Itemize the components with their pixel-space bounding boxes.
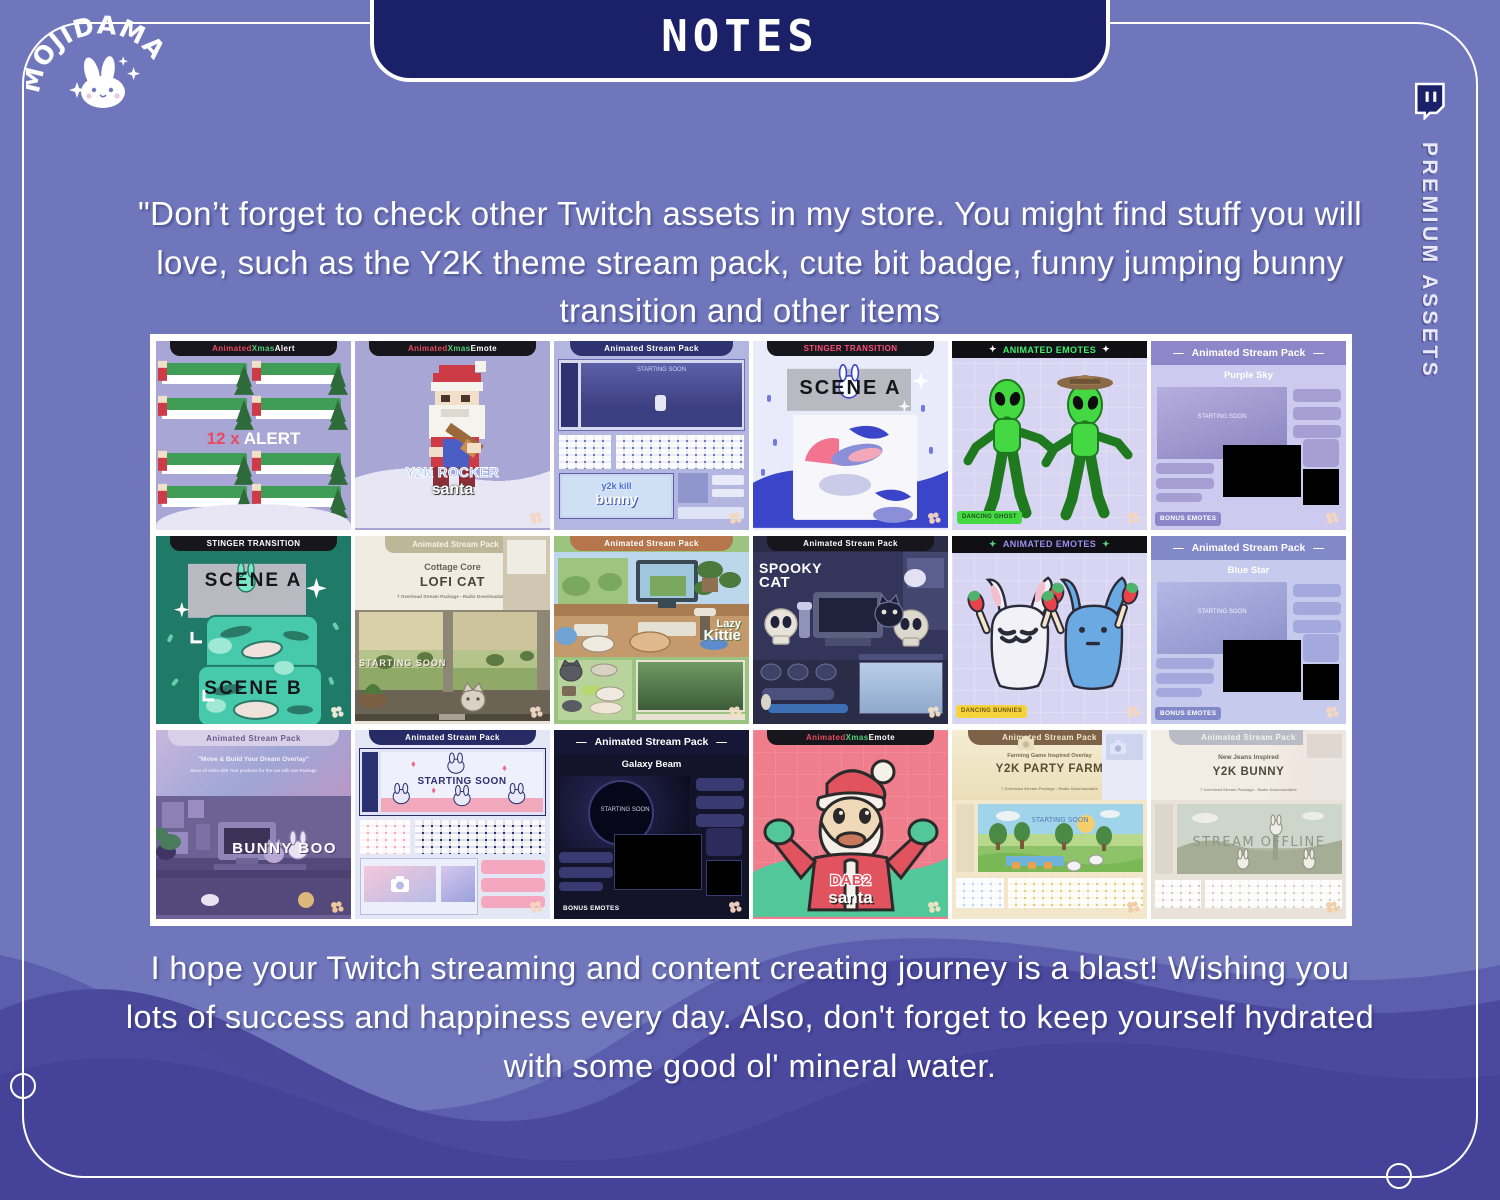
thumb-title: SCENE A bbox=[799, 377, 901, 399]
thumb-screen-text: STARTING SOON bbox=[359, 658, 446, 668]
twitch-glitch-icon bbox=[1412, 82, 1446, 120]
flower-icon bbox=[329, 900, 345, 914]
thumb-subtitle: Kittie bbox=[704, 627, 742, 644]
gallery-item-lofi-cat[interactable]: Animated Stream Pack Cottage Core LOFI C… bbox=[355, 536, 550, 725]
thumb-badge: BONUS EMOTES bbox=[1155, 707, 1221, 720]
camera-icon bbox=[1018, 736, 1034, 750]
thumb-header: Animated Stream Pack bbox=[595, 736, 709, 748]
gallery-item-dancing-ghost-emotes[interactable]: ✦ ANIMATED EMOTES ✦ bbox=[952, 341, 1147, 530]
flower-icon bbox=[1125, 511, 1141, 525]
frame-circle-bottom bbox=[1386, 1163, 1412, 1189]
camera-icon bbox=[391, 876, 409, 892]
thumb-subtitle: Blue Star bbox=[1151, 565, 1346, 576]
flower-icon bbox=[727, 900, 743, 914]
flower-icon bbox=[1324, 900, 1340, 914]
thumb-subtitle: CAT bbox=[759, 574, 822, 591]
svg-text:STARTING SOON: STARTING SOON bbox=[1031, 816, 1088, 824]
flower-icon bbox=[528, 511, 544, 525]
flower-icon bbox=[727, 511, 743, 525]
thumb-quote: "Move & Build Your Dream Overlay" bbox=[156, 756, 351, 763]
thumb-note: Move all sides with Your products for th… bbox=[156, 768, 351, 774]
gallery-item-galaxy-beam[interactable]: — Animated Stream Pack — Galaxy Beam STA… bbox=[554, 730, 749, 919]
gallery-item-dab2-santa[interactable]: Animated Xmas Emote bbox=[753, 730, 948, 919]
header-banner: NOTES bbox=[370, 0, 1110, 82]
thumb-title: y2k kill bbox=[601, 481, 631, 491]
gallery-item-purple-sky-pack[interactable]: — Animated Stream Pack — Purple Sky STAR… bbox=[1151, 341, 1346, 530]
thumb-header: Animated Stream Pack bbox=[767, 536, 934, 551]
thumb-badge: DANCING BUNNIES bbox=[956, 705, 1027, 718]
flower-icon bbox=[1324, 705, 1340, 719]
thumb-header: Animated Stream Pack bbox=[570, 341, 733, 356]
gallery-item-stinger-scene-a[interactable]: STINGER TRANSITION bbox=[753, 341, 948, 530]
thumb-title: Y2K ROCKER bbox=[406, 465, 500, 480]
flower-icon bbox=[1125, 705, 1141, 719]
thumb-screen-text: STARTING SOON bbox=[1197, 414, 1246, 420]
thumb-title: BUNNY BOO bbox=[156, 840, 351, 857]
flower-icon bbox=[1125, 900, 1141, 914]
thumb-subtitle: santa bbox=[828, 888, 872, 907]
thumb-title: DAB2 bbox=[830, 872, 871, 889]
bunny-mascot-icon bbox=[81, 55, 125, 108]
flower-icon bbox=[528, 705, 544, 719]
thumb-header: Animated Stream Pack bbox=[570, 536, 733, 551]
thumb-header: Animated Stream Pack bbox=[1192, 347, 1306, 359]
flower-icon bbox=[926, 511, 942, 525]
thumb-screen-text: STARTING SOON bbox=[1197, 609, 1246, 615]
gallery-item-spooky-cat[interactable]: Animated Stream Pack bbox=[753, 536, 948, 725]
flower-icon bbox=[926, 705, 942, 719]
thumb-subtitle: bunny bbox=[596, 491, 638, 507]
thumb-badge: BONUS EMOTES bbox=[558, 902, 624, 915]
thumb-header: Animated Stream Pack bbox=[1192, 542, 1306, 554]
thumb-screen-text: STARTING SOON bbox=[600, 807, 649, 813]
thumb-title-2: SCENE B bbox=[204, 678, 302, 699]
thumb-subtitle: santa bbox=[432, 481, 474, 498]
thumb-header: Animated Stream Pack bbox=[369, 730, 536, 745]
page-title: NOTES bbox=[661, 11, 818, 62]
gallery-item-y2k-rocker-santa[interactable]: Animated Xmas Emote bbox=[355, 341, 550, 530]
gallery-item-bunny-boo[interactable]: Animated Stream Pack "Move & Build Your … bbox=[156, 730, 351, 919]
flower-icon bbox=[528, 900, 544, 914]
premium-assets-label: PREMIUM ASSETS bbox=[1417, 142, 1441, 379]
gallery-item-xmas-alert[interactable]: Animated Xmas Alert 12 x ALERT bbox=[156, 341, 351, 530]
flower-icon bbox=[926, 900, 942, 914]
gallery-item-lazy-kittie[interactable]: Animated Stream Pack bbox=[554, 536, 749, 725]
thumb-subtitle: Galaxy Beam bbox=[554, 759, 749, 770]
flower-icon bbox=[329, 705, 345, 719]
thumb-badge: DANCING GHOST bbox=[957, 511, 1022, 524]
brand-logo: MOJIDAMA bbox=[26, 10, 176, 115]
premium-assets-rail: PREMIUM ASSETS bbox=[1394, 82, 1464, 502]
frame-circle-left bbox=[10, 1073, 36, 1099]
gallery-item-stinger-green[interactable]: STINGER TRANSITION bbox=[156, 536, 351, 725]
gallery-item-y2k-bunny[interactable]: Animated Stream Pack New Jeans Inspired … bbox=[1151, 730, 1346, 919]
thumb-subtitle: Purple Sky bbox=[1151, 370, 1346, 381]
bottom-paragraph: I hope your Twitch streaming and content… bbox=[125, 944, 1375, 1090]
gallery-item-starting-soon-keyboard[interactable]: Animated Stream Pack STARTING SOON bbox=[355, 730, 550, 919]
camera-icon bbox=[1110, 740, 1126, 754]
asset-gallery: Animated Xmas Alert 12 x ALERT bbox=[150, 334, 1352, 926]
top-paragraph: "Don’t forget to check other Twitch asse… bbox=[125, 190, 1375, 336]
thumb-title: SCENE A bbox=[205, 570, 303, 591]
thumb-header: Animated Stream Pack bbox=[168, 730, 339, 746]
flower-icon bbox=[727, 705, 743, 719]
svg-text:STREAM OFFLINE: STREAM OFFLINE bbox=[1193, 835, 1326, 850]
flower-icon bbox=[1324, 511, 1340, 525]
thumb-badge: BONUS EMOTES bbox=[1155, 512, 1221, 525]
gallery-item-y2k-kill-bunny[interactable]: Animated Stream Pack STARTING SOON y2k k… bbox=[554, 341, 749, 530]
gallery-item-y2k-party-farm[interactable]: Animated Stream Pack Farming Game Inspir… bbox=[952, 730, 1147, 919]
gallery-item-dancing-bunnies-emotes[interactable]: ✦ ANIMATED EMOTES ✦ bbox=[952, 536, 1147, 725]
gallery-item-blue-star-pack[interactable]: — Animated Stream Pack — Blue Star START… bbox=[1151, 536, 1346, 725]
